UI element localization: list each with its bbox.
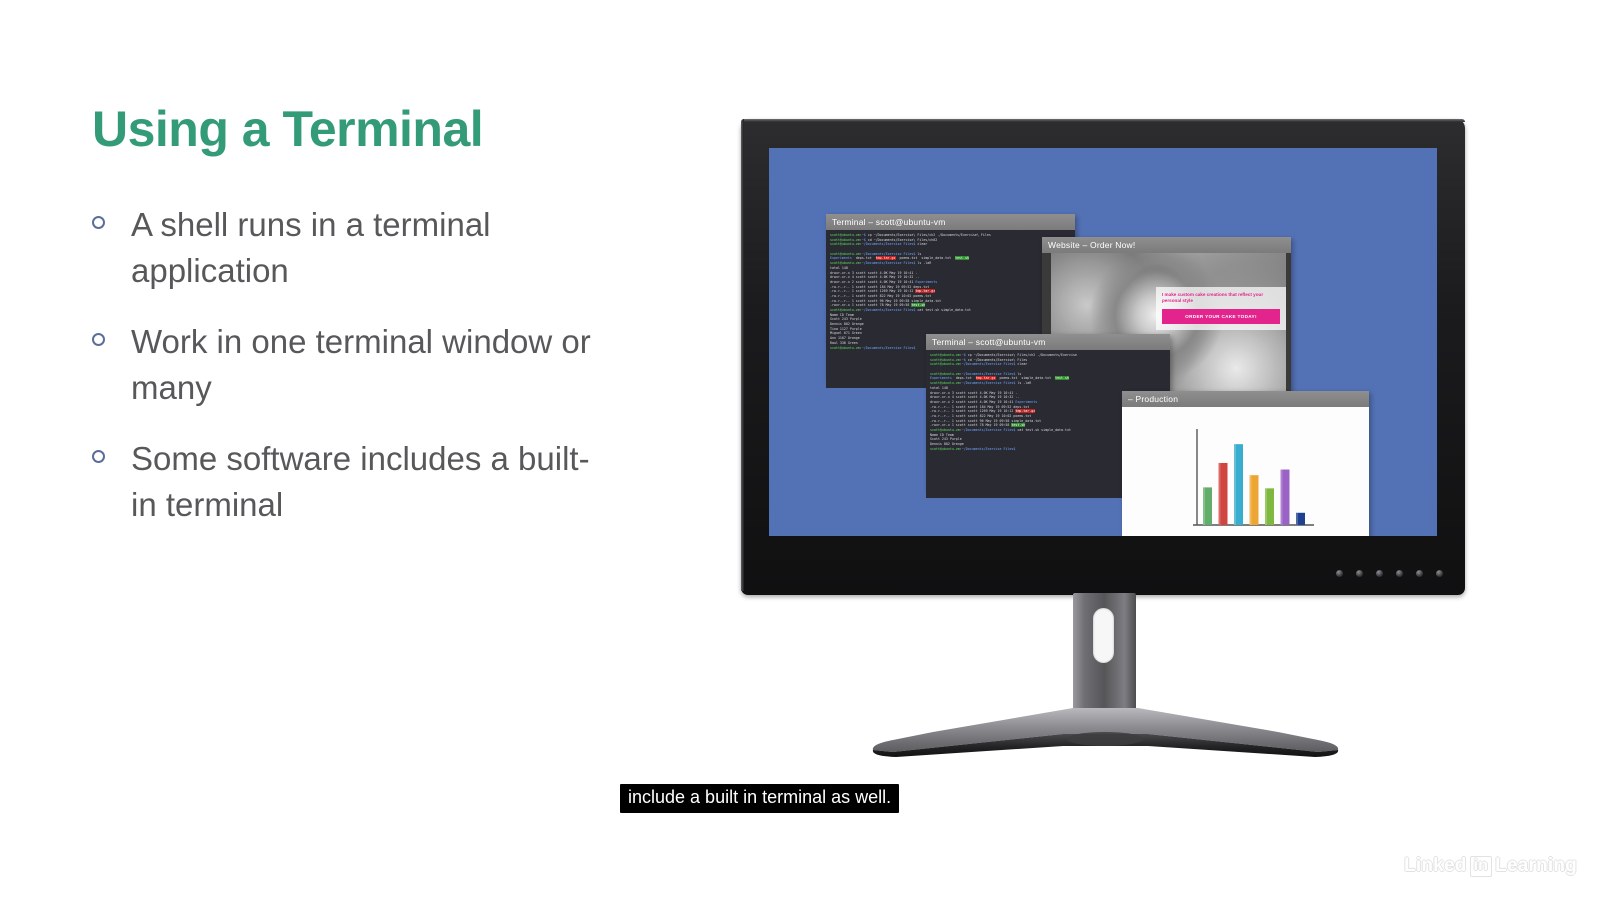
window-title-website: Website – Order Now!	[1042, 237, 1291, 253]
production-bar-chart	[1122, 407, 1369, 536]
monitor-bezel-buttons[interactable]	[1336, 570, 1443, 577]
chart-bar-highlight	[1250, 475, 1252, 525]
bezel-button-4[interactable]	[1396, 570, 1403, 577]
bezel-power-button[interactable]	[1436, 570, 1443, 577]
bezel-button-3[interactable]	[1376, 570, 1383, 577]
list-item: Work in one terminal window or many	[92, 319, 692, 410]
chart-bar-highlight	[1234, 444, 1236, 525]
promo-panel: I make custom cake creations that reflec…	[1156, 287, 1286, 330]
monitor-screen: Terminal – scott@ubuntu-vm scott@ubuntu-…	[769, 148, 1437, 536]
chart-bar-highlight	[1219, 463, 1221, 525]
photo-right-margin	[1286, 253, 1291, 401]
bullet-circle-icon	[92, 216, 105, 229]
chart-bar-highlight	[1281, 470, 1283, 525]
chart-bar-highlight	[1265, 488, 1267, 525]
monitor-stand-base	[848, 706, 1363, 758]
monitor-illustration: Terminal – scott@ubuntu-vm scott@ubuntu-…	[741, 119, 1465, 595]
bullet-circle-icon	[92, 333, 105, 346]
list-item: Some software includes a built-in termin…	[92, 436, 692, 527]
video-caption: include a built in terminal as well.	[620, 784, 899, 813]
window-title-chart: – Production	[1122, 391, 1369, 407]
order-cake-button[interactable]: ORDER YOUR CAKE TODAY!	[1162, 309, 1280, 324]
bezel-left-highlight	[741, 119, 744, 591]
stand-cable-slot	[1093, 608, 1114, 663]
slide-text-column: Using a Terminal A shell runs in a termi…	[92, 104, 692, 553]
bezel-button-2[interactable]	[1356, 570, 1363, 577]
slide-canvas: Using a Terminal A shell runs in a termi…	[0, 0, 1599, 899]
bullet-circle-icon	[92, 450, 105, 463]
bezel-button-1[interactable]	[1336, 570, 1343, 577]
linkedin-learning-watermark: Linked in Learning	[1404, 855, 1577, 877]
bullet-text: Some software includes a built-in termin…	[131, 436, 601, 527]
window-chart[interactable]: – Production	[1122, 391, 1369, 536]
bezel-top-highlight	[741, 119, 1465, 122]
bullet-text: A shell runs in a terminal application	[131, 202, 601, 293]
watermark-linked: Linked	[1404, 855, 1466, 877]
list-item: A shell runs in a terminal application	[92, 202, 692, 293]
chart-bars	[1203, 444, 1305, 525]
promo-headline: I make custom cake creations that reflec…	[1162, 292, 1280, 304]
watermark-learning: Learning	[1495, 855, 1577, 877]
page-title: Using a Terminal	[92, 104, 692, 154]
window-title-terminal-one: Terminal – scott@ubuntu-vm	[826, 214, 1075, 230]
bullet-text: Work in one terminal window or many	[131, 319, 601, 410]
bezel-button-5[interactable]	[1416, 570, 1423, 577]
chart-area	[1122, 407, 1369, 536]
chart-bar-highlight	[1203, 487, 1205, 525]
chart-bar-highlight	[1296, 513, 1298, 525]
watermark-in-badge: in	[1470, 856, 1493, 877]
window-title-terminal-two: Terminal – scott@ubuntu-vm	[926, 334, 1170, 350]
